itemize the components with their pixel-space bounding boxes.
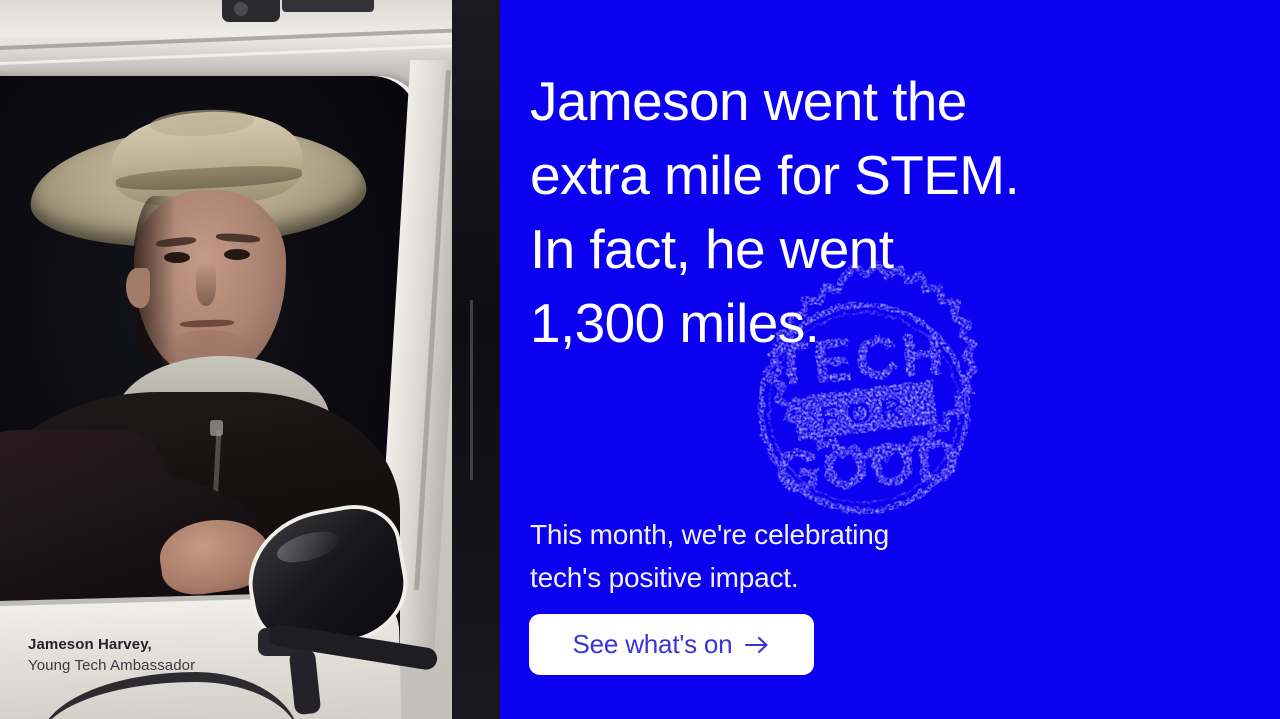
cab-right-shadow (452, 0, 500, 719)
roof-fitting-icon (222, 0, 280, 22)
photo-caption: Jameson Harvey, Young Tech Ambassador (28, 634, 195, 677)
jacket-zip-pull (210, 420, 223, 436)
promo-banner: Jameson Harvey, Young Tech Ambassador Ja… (0, 0, 1280, 719)
subject-nose (196, 262, 216, 306)
hero-photo: Jameson Harvey, Young Tech Ambassador (0, 0, 500, 719)
headline-line-1: Jameson went the (530, 64, 1130, 138)
cab-right-highlight (470, 300, 473, 480)
roof-rail-icon (282, 0, 374, 12)
subject-eye-right (224, 249, 250, 260)
subject-eye-left (164, 252, 190, 263)
headline-line-2: extra mile for STEM. (530, 138, 1130, 212)
subject-ear (126, 268, 150, 308)
content-panel: Jameson went the extra mile for STEM. In… (500, 0, 1280, 719)
stamp-line-3: GOOD (773, 427, 962, 505)
cta-label: See what's on (573, 629, 733, 660)
caption-name: Jameson Harvey, (28, 634, 195, 655)
see-whats-on-button[interactable]: See what's on (529, 614, 814, 675)
arrow-right-icon (744, 635, 770, 655)
caption-role: Young Tech Ambassador (28, 655, 195, 676)
tech-for-good-stamp: TECH FOR GOOD (725, 244, 1004, 571)
